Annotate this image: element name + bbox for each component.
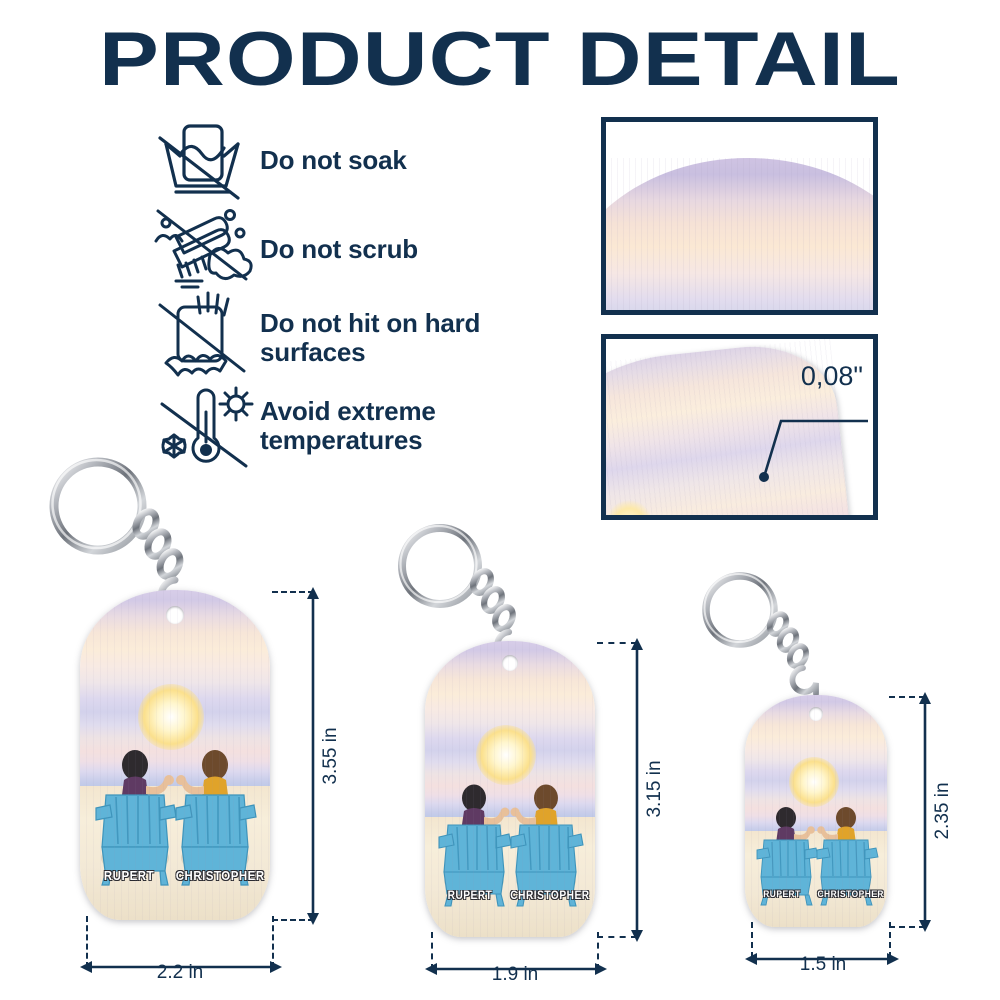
care-instruction-label: Do not scrub: [260, 235, 418, 264]
care-instruction-item: Do not soak: [148, 118, 498, 204]
name-label-left: RUPERT: [91, 868, 167, 883]
care-instruction-item: Do not hit on hard surfaces: [148, 292, 498, 384]
tag-hole: [809, 707, 823, 721]
tag-hole: [502, 655, 518, 671]
dimension-width-label-small: 1.5 in: [760, 954, 886, 976]
name-label-left: RUPERT: [436, 890, 505, 902]
key-ring-small: [696, 568, 836, 708]
no-scrub-icon: [148, 207, 260, 293]
name-label-right: CHRISTOPHER: [817, 889, 882, 900]
dimension-height-label-small: 2.35 in: [932, 771, 954, 851]
name-label-right: CHRISTOPHER: [510, 890, 587, 902]
care-instructions-list: Do not soak Do not scrub: [148, 118, 498, 480]
dimension-height-label-large: 3.55 in: [320, 716, 342, 796]
page-title: PRODUCT DETAIL: [0, 16, 1000, 103]
thickness-callout-label: 0,08": [801, 361, 863, 392]
dimension-height-label-medium: 3.15 in: [644, 749, 666, 829]
care-instruction-label: Do not hit on hard surfaces: [260, 309, 498, 368]
care-instruction-label: Avoid extreme temperatures: [260, 397, 498, 456]
dimension-width-label-medium: 1.9 in: [445, 964, 585, 986]
no-soak-icon: [148, 120, 260, 202]
care-instruction-label: Do not soak: [260, 146, 407, 175]
dimension-width-label-large: 2.2 in: [100, 962, 260, 984]
keychain-tag-medium: RUPERT CHRISTOPHER: [425, 641, 595, 937]
tag-closeup-image: [601, 158, 878, 315]
name-label-right: CHRISTOPHER: [176, 868, 260, 883]
pebble: [700, 518, 724, 520]
tag-hole: [166, 606, 184, 624]
keychain-tag-small: RUPERT CHRISTOPHER: [745, 695, 887, 927]
no-impact-icon: [148, 291, 260, 385]
keychain-hole-closeup-panel: [601, 117, 878, 315]
keychain-tag-large: RUPERT CHRISTOPHER: [80, 590, 270, 920]
care-instruction-item: Do not scrub: [148, 206, 498, 294]
name-label-left: RUPERT: [753, 889, 811, 900]
keychain-thickness-closeup-panel: 0,08": [601, 334, 878, 520]
